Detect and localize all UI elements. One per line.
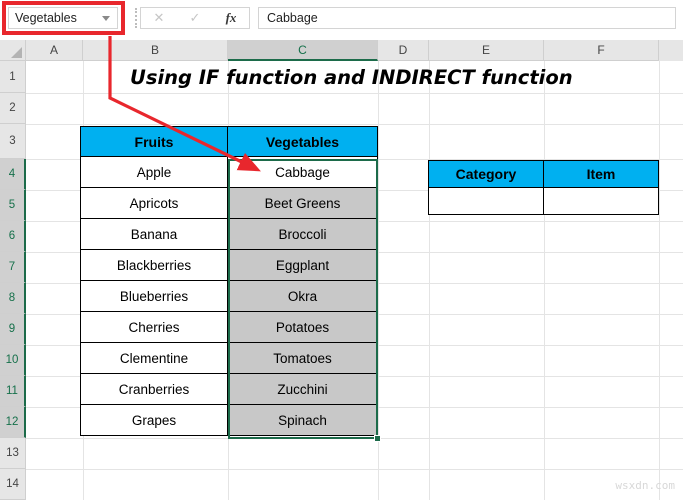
header-label: Fruits bbox=[81, 127, 227, 156]
row-header-7[interactable]: 7 bbox=[0, 252, 26, 283]
table-row[interactable]: BlueberriesOkra bbox=[81, 281, 378, 312]
cell-value: Tomatoes bbox=[228, 343, 377, 373]
table-row[interactable]: CherriesPotatoes bbox=[81, 312, 378, 343]
cell-value: Okra bbox=[228, 281, 377, 311]
cell-value: Zucchini bbox=[228, 374, 377, 404]
table-cell[interactable] bbox=[544, 188, 659, 215]
row-header-2[interactable]: 2 bbox=[0, 93, 26, 124]
row-header-6[interactable]: 6 bbox=[0, 221, 26, 252]
row-header-14[interactable]: 14 bbox=[0, 469, 26, 500]
cell-value bbox=[544, 188, 658, 214]
table-row[interactable]: CranberriesZucchini bbox=[81, 374, 378, 405]
gridline-vertical bbox=[544, 61, 545, 500]
cell-value: Eggplant bbox=[228, 250, 377, 280]
table-cell[interactable]: Zucchini bbox=[228, 374, 378, 405]
table-cell[interactable]: Broccoli bbox=[228, 219, 378, 250]
formula-input[interactable]: Cabbage bbox=[258, 7, 676, 29]
column-header-A[interactable]: A bbox=[26, 40, 83, 61]
table-row[interactable]: AppleCabbage bbox=[81, 157, 378, 188]
table-cell[interactable]: Cherries bbox=[81, 312, 228, 343]
table-cell[interactable]: Apricots bbox=[81, 188, 228, 219]
cell-value: Blueberries bbox=[81, 281, 227, 311]
name-box[interactable]: Vegetables bbox=[8, 7, 118, 29]
column-header-C[interactable]: C bbox=[228, 40, 378, 61]
chevron-down-icon[interactable] bbox=[102, 16, 110, 21]
formula-action-icons: ✕ ✓ fx bbox=[140, 7, 250, 29]
fruits-vegetables-table[interactable]: FruitsVegetablesAppleCabbageApricotsBeet… bbox=[80, 126, 378, 436]
cell-value: Potatoes bbox=[228, 312, 377, 342]
header-label: Item bbox=[544, 161, 658, 187]
row-header-3[interactable]: 3 bbox=[0, 124, 26, 159]
insert-function-icon[interactable]: fx bbox=[213, 8, 249, 28]
gridline-horizontal bbox=[26, 124, 683, 125]
cell-value: Broccoli bbox=[228, 219, 377, 249]
table-cell[interactable]: Banana bbox=[81, 219, 228, 250]
gridline-vertical bbox=[429, 61, 430, 500]
row-header-9[interactable]: 9 bbox=[0, 314, 26, 345]
cell-value: Apricots bbox=[81, 188, 227, 218]
table-cell[interactable] bbox=[429, 188, 544, 215]
row-header-11[interactable]: 11 bbox=[0, 376, 26, 407]
gridline-horizontal bbox=[26, 438, 683, 439]
header-label: Vegetables bbox=[228, 127, 377, 156]
table-header-row: CategoryItem bbox=[429, 161, 659, 188]
watermark: wsxdn.com bbox=[615, 479, 675, 492]
row-header-10[interactable]: 10 bbox=[0, 345, 26, 376]
row-header-bar: 1234567891011121314 bbox=[0, 61, 26, 500]
table-cell[interactable]: Eggplant bbox=[228, 250, 378, 281]
row-header-4[interactable]: 4 bbox=[0, 159, 26, 190]
cell-value bbox=[429, 188, 543, 214]
header-label: Category bbox=[429, 161, 543, 187]
column-header-bar: ABCDEF bbox=[0, 40, 683, 61]
column-header-D[interactable]: D bbox=[378, 40, 429, 61]
cell-value: Cabbage bbox=[228, 157, 377, 187]
gridline-horizontal bbox=[26, 469, 683, 470]
column-header-cell[interactable]: Item bbox=[544, 161, 659, 188]
cancel-icon[interactable]: ✕ bbox=[141, 8, 177, 28]
table-cell[interactable]: Blueberries bbox=[81, 281, 228, 312]
table-row[interactable]: BananaBroccoli bbox=[81, 219, 378, 250]
cell-value: Grapes bbox=[81, 405, 227, 435]
cell-value: Cherries bbox=[81, 312, 227, 342]
table-cell[interactable]: Tomatoes bbox=[228, 343, 378, 374]
category-item-table[interactable]: CategoryItem bbox=[428, 160, 659, 215]
gridline-vertical bbox=[378, 61, 379, 500]
table-header-row: FruitsVegetables bbox=[81, 127, 378, 157]
table-row[interactable]: BlackberriesEggplant bbox=[81, 250, 378, 281]
table-row[interactable]: GrapesSpinach bbox=[81, 405, 378, 436]
name-box-value: Vegetables bbox=[15, 11, 102, 25]
table-row[interactable] bbox=[429, 188, 659, 215]
row-header-1[interactable]: 1 bbox=[0, 61, 26, 93]
table-cell[interactable]: Spinach bbox=[228, 405, 378, 436]
table-cell[interactable]: Cabbage bbox=[228, 157, 378, 188]
table-cell[interactable]: Blackberries bbox=[81, 250, 228, 281]
row-header-12[interactable]: 12 bbox=[0, 407, 26, 438]
row-header-8[interactable]: 8 bbox=[0, 283, 26, 314]
column-header-cell[interactable]: Fruits bbox=[81, 127, 228, 157]
cell-value: Clementine bbox=[81, 343, 227, 373]
cell-value: Spinach bbox=[228, 405, 377, 435]
column-header-cell[interactable]: Vegetables bbox=[228, 127, 378, 157]
column-header-E[interactable]: E bbox=[429, 40, 544, 61]
table-cell[interactable]: Okra bbox=[228, 281, 378, 312]
table-cell[interactable]: Beet Greens bbox=[228, 188, 378, 219]
cell-value: Beet Greens bbox=[228, 188, 377, 218]
table-row[interactable]: ApricotsBeet Greens bbox=[81, 188, 378, 219]
sheet-title: Using IF function and INDIRECT function bbox=[130, 66, 573, 89]
gridline-horizontal bbox=[26, 93, 683, 94]
formula-bar-divider bbox=[135, 8, 137, 28]
row-header-5[interactable]: 5 bbox=[0, 190, 26, 221]
gridline-vertical bbox=[659, 61, 660, 500]
table-cell[interactable]: Apple bbox=[81, 157, 228, 188]
row-header-13[interactable]: 13 bbox=[0, 438, 26, 469]
table-cell[interactable]: Clementine bbox=[81, 343, 228, 374]
excel-window: Vegetables ✕ ✓ fx Cabbage ABCDEF 1234567… bbox=[0, 0, 683, 500]
confirm-icon[interactable]: ✓ bbox=[177, 8, 213, 28]
formula-input-value: Cabbage bbox=[267, 11, 318, 25]
cell-value: Cranberries bbox=[81, 374, 227, 404]
formula-bar: Vegetables ✕ ✓ fx Cabbage bbox=[0, 0, 683, 36]
table-cell[interactable]: Cranberries bbox=[81, 374, 228, 405]
table-row[interactable]: ClementineTomatoes bbox=[81, 343, 378, 374]
column-header-B[interactable]: B bbox=[83, 40, 228, 61]
cell-value: Blackberries bbox=[81, 250, 227, 280]
column-header-F[interactable]: F bbox=[544, 40, 659, 61]
table-cell[interactable]: Grapes bbox=[81, 405, 228, 436]
table-cell[interactable]: Potatoes bbox=[228, 312, 378, 343]
cell-value: Apple bbox=[81, 157, 227, 187]
select-all-corner[interactable] bbox=[0, 40, 26, 61]
column-header-cell[interactable]: Category bbox=[429, 161, 544, 188]
cell-value: Banana bbox=[81, 219, 227, 249]
